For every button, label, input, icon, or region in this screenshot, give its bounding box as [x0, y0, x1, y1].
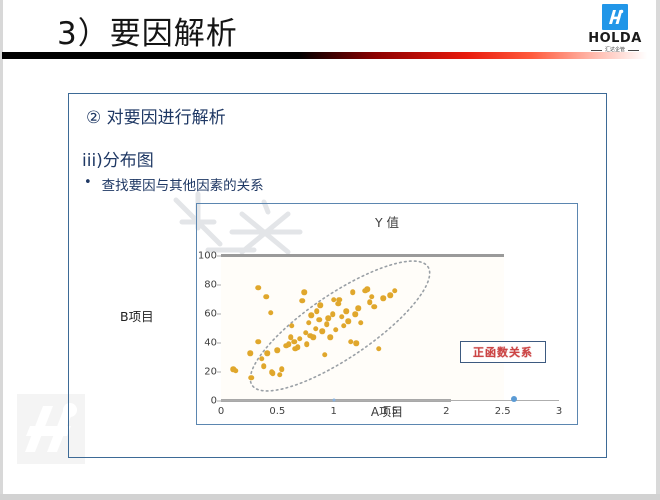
plot-background [221, 256, 504, 401]
scatter-point [511, 396, 517, 402]
scatter-chart: Y 值 正函数关系 02040608010000.511.522.53 A项目 [196, 203, 578, 425]
scatter-point [311, 334, 317, 340]
scatter-point [259, 356, 265, 362]
scatter-point [299, 298, 305, 304]
scatter-point [255, 339, 261, 345]
content-heading-1: ② 对要因进行解析 [86, 103, 226, 128]
chart-x-axis-label: A项目 [197, 403, 577, 420]
bullet-item-1: • 查找要因与其他因素的关系 [84, 174, 264, 194]
scatter-point [295, 345, 301, 351]
y-tick-label: 100 [198, 251, 217, 262]
scatter-point [350, 290, 356, 296]
scatter-point [302, 290, 308, 296]
y-tick-mark [217, 372, 221, 373]
title-accent-rule [2, 52, 647, 59]
scatter-point [304, 342, 310, 348]
scatter-point [392, 288, 398, 294]
scatter-point [264, 350, 270, 356]
y-tick-mark [217, 401, 221, 402]
y-tick-label: 40 [204, 338, 217, 349]
logo-wordmark: HOLDA [584, 32, 646, 46]
logo-subtext: 汇达企管 [605, 47, 625, 53]
scatter-point [330, 311, 336, 317]
scatter-point [268, 310, 274, 316]
annotation-callout: 正函数关系 [460, 341, 546, 363]
scatter-point [297, 336, 303, 342]
chart-plot-area: 正函数关系 02040608010000.511.522.53 [221, 246, 559, 401]
scatter-point [333, 327, 339, 333]
chart-y-axis-label: B项目 [120, 306, 154, 325]
scatter-point [352, 311, 358, 317]
page-left-edge [0, 0, 3, 500]
scatter-point [289, 323, 295, 329]
scatter-point [270, 371, 276, 377]
logo-subtext-row: 汇达企管 [584, 47, 646, 53]
scatter-point [380, 295, 386, 301]
scatter-point [369, 294, 375, 300]
hi-monogram-icon [602, 4, 628, 30]
scatter-point [358, 320, 364, 326]
scatter-point [346, 319, 352, 325]
page-right-edge [656, 0, 660, 500]
bullet-text-1: 查找要因与其他因素的关系 [102, 174, 264, 194]
y-tick-mark [217, 314, 221, 315]
y-tick-mark [217, 285, 221, 286]
scatter-point [275, 348, 281, 354]
scatter-point [248, 350, 254, 356]
scatter-point [365, 287, 371, 293]
scatter-point [324, 321, 330, 327]
y-tick-label: 60 [204, 309, 217, 320]
scatter-point [263, 294, 269, 300]
scatter-point [371, 304, 377, 310]
scatter-point [353, 340, 359, 346]
scatter-point [316, 317, 322, 323]
annotation-text: 正函数关系 [473, 344, 533, 360]
content-heading-2: iii)分布图 [82, 146, 154, 171]
y-tick-mark [217, 343, 221, 344]
scatter-point [249, 375, 255, 381]
scatter-point [233, 368, 239, 374]
page-bottom-edge [0, 494, 660, 500]
page-title: 3）要因解析 [57, 8, 238, 53]
y-tick-label: 20 [204, 367, 217, 378]
scatter-point [308, 313, 314, 319]
logo-rule-left [591, 50, 602, 51]
scatter-point [277, 372, 283, 378]
y-tick-label: 80 [204, 280, 217, 291]
scatter-point [317, 303, 323, 309]
scatter-point [313, 326, 319, 332]
scatter-point [291, 339, 297, 345]
scatter-point [322, 352, 328, 358]
scatter-point [356, 305, 362, 311]
scatter-point [339, 314, 345, 320]
scatter-point [343, 308, 349, 314]
scatter-point [328, 334, 334, 340]
bullet-marker-icon: • [84, 174, 92, 191]
plot-top-bar [221, 254, 504, 257]
y-tick-mark [217, 256, 221, 257]
scatter-point [279, 366, 285, 372]
scatter-point [314, 308, 320, 314]
slide-root: 3）要因解析 HOLDA 汇达企管 [0, 0, 660, 500]
scatter-point [337, 297, 343, 303]
chart-title: Y 值 [197, 212, 577, 231]
scatter-point [255, 285, 261, 291]
scatter-point [320, 329, 326, 335]
scatter-point [332, 399, 335, 402]
scatter-point [306, 320, 312, 326]
scatter-point [376, 346, 382, 352]
scatter-point [261, 363, 267, 369]
logo-rule-right [628, 50, 639, 51]
x-axis-line [221, 400, 559, 401]
brand-logo: HOLDA 汇达企管 [584, 4, 646, 53]
